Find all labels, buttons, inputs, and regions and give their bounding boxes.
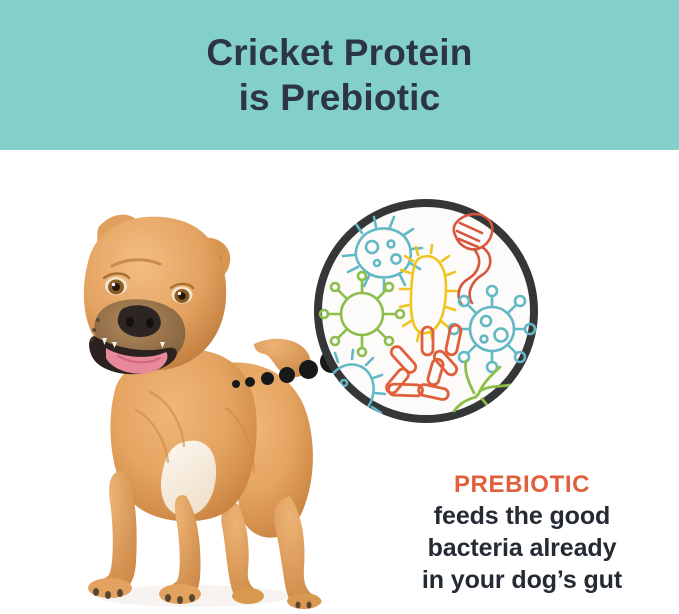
dog-paw-rear-right xyxy=(287,593,321,609)
page-title-line-1: Cricket Protein xyxy=(206,30,472,75)
microbe-field xyxy=(314,199,538,423)
caption-headline: PREBIOTIC xyxy=(372,470,672,500)
trail-dot-2 xyxy=(245,377,255,387)
caption-line-1: feeds the good xyxy=(372,500,672,532)
caption-line-2: bacteria already xyxy=(372,532,672,564)
teal-amoeba-microbe xyxy=(343,217,422,291)
dog-photo xyxy=(58,196,348,614)
green-spiky-virus xyxy=(320,272,404,356)
dog-paw-rear-left xyxy=(232,588,264,604)
trail-dot-3 xyxy=(261,372,274,385)
prebiotic-infographic: Cricket Protein is Prebiotic xyxy=(0,0,679,614)
orange-rod-cluster xyxy=(384,324,462,400)
trail-dot-4 xyxy=(279,367,295,383)
page-title-line-2: is Prebiotic xyxy=(239,75,441,120)
header-banner: Cricket Protein is Prebiotic xyxy=(0,0,679,150)
dog-rear-leg-right xyxy=(274,496,321,606)
magnifier-lens xyxy=(314,199,538,423)
caption-block: PREBIOTIC feeds the good bacteria alread… xyxy=(372,470,672,596)
dog-front-leg-left xyxy=(97,471,137,592)
dog-nostril-left xyxy=(126,317,134,327)
caption-line-3: in your dog’s gut xyxy=(372,564,672,596)
green-tendril-microbe xyxy=(454,361,510,421)
dog-nostril-right xyxy=(146,318,154,328)
teal-spiky-microbe-partial xyxy=(316,350,385,423)
trail-dot-1 xyxy=(232,380,240,388)
